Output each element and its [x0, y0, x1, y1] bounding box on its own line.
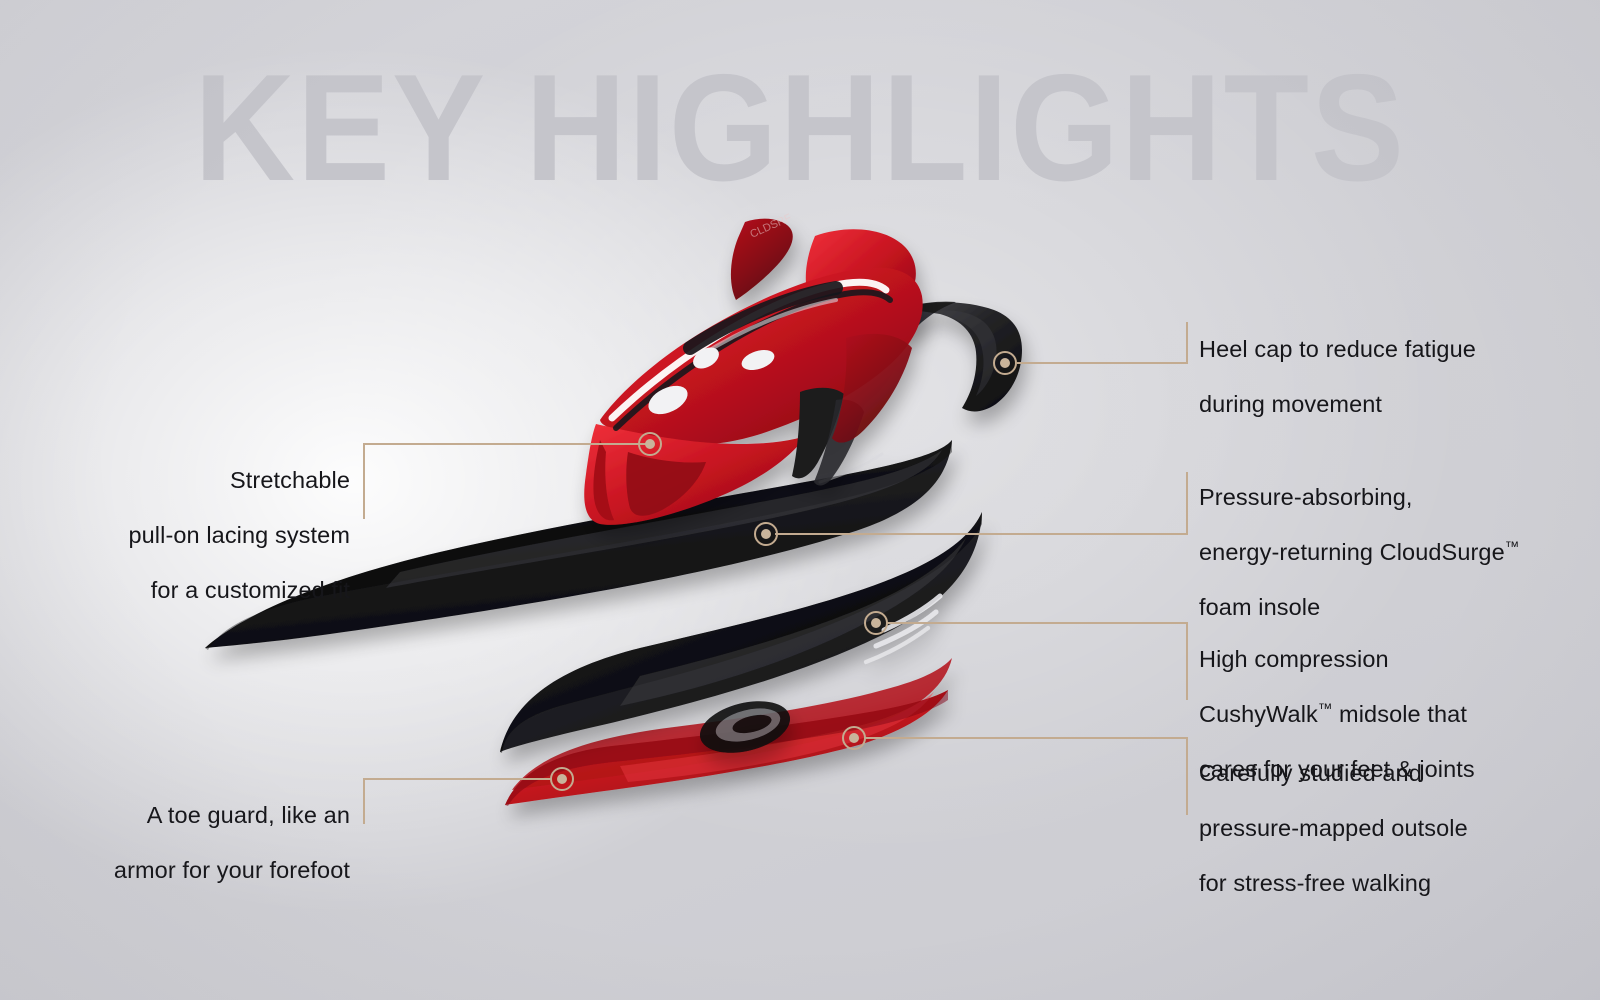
callout-insole-line-2: energy-returning CloudSurge™ — [1199, 539, 1549, 566]
marker-insole[interactable] — [754, 522, 778, 546]
callout-lacing: Stretchable pull-on lacing system for a … — [10, 440, 350, 632]
trademark-icon: ™ — [1505, 540, 1520, 556]
callout-toe-guard-line-2: armor for your forefoot — [10, 857, 350, 884]
callout-outsole-line-2: pressure-mapped outsole — [1199, 815, 1549, 842]
marker-outsole[interactable] — [842, 726, 866, 750]
callout-heel-cap: Heel cap to reduce fatigue during moveme… — [1199, 309, 1539, 446]
callout-heel-cap-line-2: during movement — [1199, 391, 1539, 418]
callout-insole-line-3: foam insole — [1199, 594, 1549, 621]
marker-lacing[interactable] — [638, 432, 662, 456]
callout-toe-guard-line-1: A toe guard, like an — [10, 802, 350, 829]
callout-lacing-line-1: Stretchable — [10, 467, 350, 494]
callout-midsole-line-2-tail: midsole that — [1332, 701, 1467, 727]
callout-outsole-line-3: for stress-free walking — [1199, 870, 1549, 897]
callout-toe-guard: A toe guard, like an armor for your fore… — [10, 775, 350, 912]
callout-outsole: Carefully studied and pressure-mapped ou… — [1199, 733, 1549, 925]
callout-lacing-line-3: for a customized fit — [10, 577, 350, 604]
callout-midsole-line-1: High compression — [1199, 646, 1549, 673]
marker-toe-guard[interactable] — [550, 767, 574, 791]
marker-heel-cap[interactable] — [993, 351, 1017, 375]
callout-outsole-line-1: Carefully studied and — [1199, 760, 1549, 787]
callout-insole-line-1: Pressure-absorbing, — [1199, 484, 1549, 511]
marker-midsole[interactable] — [864, 611, 888, 635]
callout-insole-line-2-text: energy-returning CloudSurge — [1199, 539, 1505, 565]
callout-midsole-line-2: CushyWalk™ midsole that — [1199, 701, 1549, 728]
callout-midsole-line-2-text: CushyWalk — [1199, 701, 1318, 727]
callout-heel-cap-line-1: Heel cap to reduce fatigue — [1199, 336, 1539, 363]
trademark-icon: ™ — [1318, 702, 1333, 718]
callout-lacing-line-2: pull-on lacing system — [10, 522, 350, 549]
